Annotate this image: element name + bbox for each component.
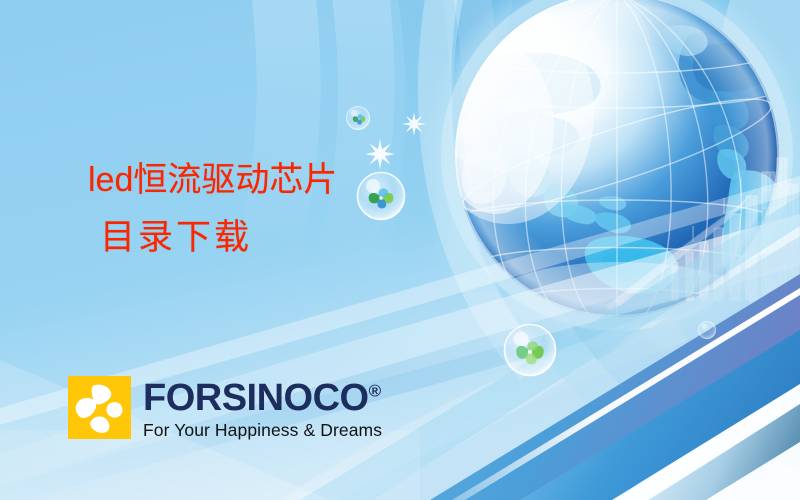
four-petal-flower-icon <box>68 376 131 439</box>
logo-wordmark: FORSINOCO® <box>143 379 382 417</box>
headline-line-1: led恒流驱动芯片 <box>88 163 337 197</box>
registered-trademark-icon: ® <box>369 381 381 400</box>
logo-mark-tile <box>68 376 131 439</box>
bubble-graphic <box>504 324 556 376</box>
banner-image: led恒流驱动芯片 目录下载 FORSINOCO® For Your <box>0 0 800 500</box>
bubble-graphic <box>357 172 405 220</box>
swirl-ribbons <box>418 0 800 500</box>
globe-graphic <box>395 0 787 330</box>
logo-text-block: FORSINOCO® For Your Happiness & Dreams <box>143 376 382 441</box>
bubble-graphic <box>698 321 716 339</box>
headline-latin-part: led <box>88 161 133 199</box>
company-logo: FORSINOCO® For Your Happiness & Dreams <box>68 376 382 441</box>
logo-wordmark-text: FORSINOCO <box>143 377 369 419</box>
headline-cjk-part: 恒流驱动芯片 <box>133 160 337 200</box>
headline-line-2: 目录下载 <box>100 221 337 256</box>
city-skyline-graphic <box>606 158 798 310</box>
globe-continents <box>395 0 787 330</box>
sparkle-graphic <box>365 112 426 169</box>
bubble-graphic <box>346 106 370 130</box>
logo-tagline: For Your Happiness & Dreams <box>143 420 382 441</box>
diagonal-ribbon-bands <box>300 196 800 500</box>
headline-text: led恒流驱动芯片 目录下载 <box>88 163 337 256</box>
